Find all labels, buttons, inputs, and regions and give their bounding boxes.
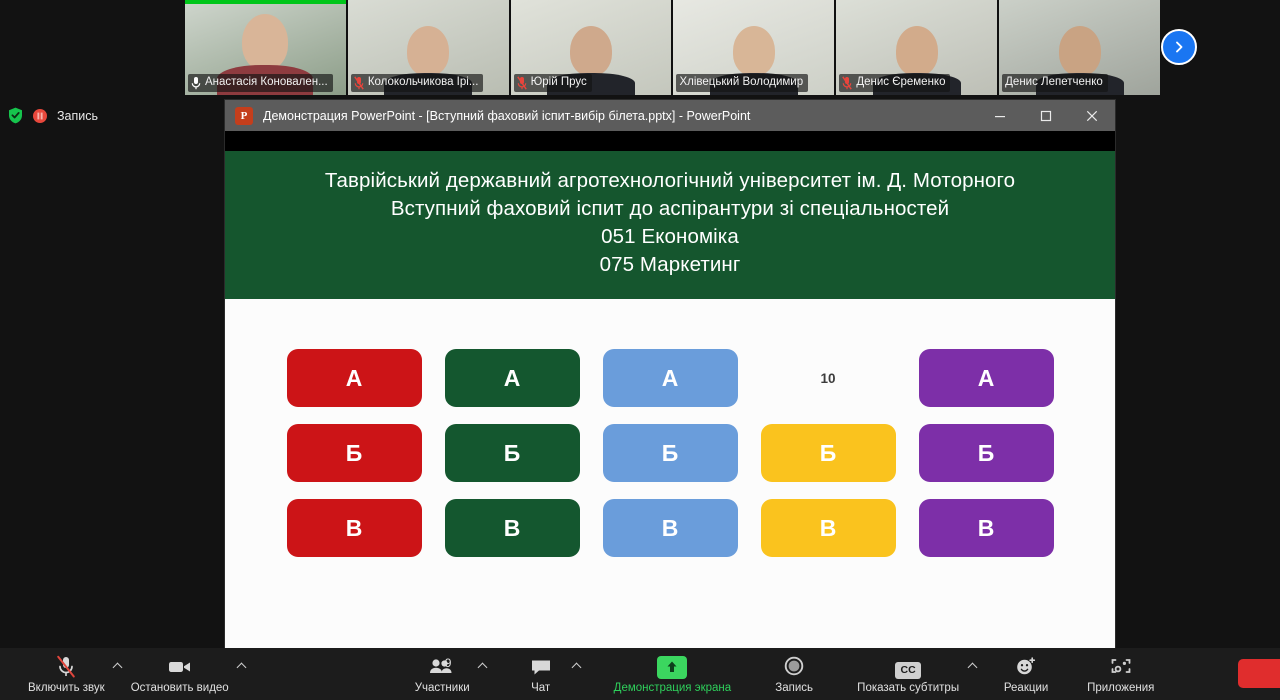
- ticket-card[interactable]: А: [445, 349, 580, 407]
- chevron-up-icon: [113, 662, 123, 672]
- ticket-card[interactable]: В: [287, 499, 422, 557]
- slide-top-black-band: [225, 131, 1115, 151]
- toolbar-chat-button[interactable]: Чат: [512, 648, 570, 700]
- participant-namebar: Денис Лепетченко: [1002, 74, 1108, 92]
- window-controls: [977, 100, 1115, 131]
- participant-name: Анастасія Коновален...: [205, 75, 328, 90]
- participant-namebar: Хлівецький Володимир: [676, 74, 808, 92]
- shield-check-icon: [8, 107, 23, 124]
- active-speaker-bar: [185, 0, 346, 4]
- ticket-card-grid: ААА10АБББББВВВВВ: [273, 349, 1067, 557]
- ticket-card[interactable]: Б: [287, 424, 422, 482]
- filmstrip-next-button[interactable]: [1161, 29, 1197, 65]
- participant-namebar: Юрій Прус: [514, 74, 592, 92]
- close-icon: [1086, 110, 1098, 122]
- chevron-up-icon: [572, 662, 582, 672]
- participant-head: [407, 26, 449, 76]
- end-call-button[interactable]: [1238, 659, 1280, 688]
- chevron-up-icon: [967, 662, 977, 672]
- minimize-button[interactable]: [977, 100, 1023, 131]
- participant-tile[interactable]: Юрій Прус: [511, 0, 672, 95]
- maximize-icon: [1040, 110, 1052, 122]
- participant-name: Колокольчикова Ірі...: [368, 75, 479, 90]
- video-options-caret[interactable]: [235, 648, 249, 700]
- participant-namebar: Колокольчикова Ірі...: [351, 74, 484, 92]
- close-button[interactable]: [1069, 100, 1115, 131]
- toolbar-audio-label: Включить звук: [28, 682, 105, 694]
- ticket-card[interactable]: В: [761, 499, 896, 557]
- captions-options-caret[interactable]: [965, 648, 979, 700]
- ticket-card[interactable]: В: [603, 499, 738, 557]
- people-icon: [428, 655, 456, 679]
- camera-icon: [167, 655, 193, 679]
- zoom-toolbar: Включить звук Остановить видео: [0, 648, 1280, 700]
- zoom-meeting-window: Анастасія Коновален...Колокольчикова Ірі…: [0, 0, 1280, 700]
- toolbar-share-screen-button[interactable]: Демонстрация экрана: [608, 648, 738, 700]
- chevron-up-icon: [478, 662, 488, 672]
- participant-tile[interactable]: Хлівецький Володимир: [673, 0, 834, 95]
- toolbar-share-screen-label: Демонстрация экрана: [614, 682, 732, 694]
- ticket-card[interactable]: Б: [603, 424, 738, 482]
- powerpoint-title: Демонстрация PowerPoint - [Вступний фахо…: [263, 109, 750, 123]
- cc-icon: CC: [895, 655, 921, 679]
- toolbar-chat-label: Чат: [531, 682, 550, 694]
- mic-muted-icon: [55, 655, 77, 679]
- smiley-plus-icon: [1014, 655, 1038, 679]
- slide-header-line: 075 Маркетинг: [235, 251, 1105, 279]
- participant-head: [1059, 26, 1101, 76]
- toolbar-video-label: Остановить видео: [131, 682, 229, 694]
- participant-namebar: Анастасія Коновален...: [188, 74, 333, 92]
- participant-tile[interactable]: Денис Єременко: [836, 0, 997, 95]
- ticket-card[interactable]: А: [287, 349, 422, 407]
- toolbar-reactions-label: Реакции: [1004, 682, 1048, 694]
- recording-pause-icon: [32, 108, 48, 124]
- maximize-button[interactable]: [1023, 100, 1069, 131]
- ticket-card[interactable]: Б: [919, 424, 1054, 482]
- toolbar-apps-button[interactable]: Приложения: [1081, 648, 1160, 700]
- participant-tile[interactable]: Анастасія Коновален...: [185, 0, 346, 95]
- mic-muted-icon: [354, 76, 364, 90]
- recording-indicator[interactable]: Запись: [8, 107, 98, 124]
- slide-header: Таврійський державний агротехнологічний …: [225, 151, 1115, 299]
- powerpoint-titlebar[interactable]: P Демонстрация PowerPoint - [Вступний фа…: [225, 100, 1115, 131]
- toolbar-captions-label: Показать субтитры: [857, 682, 959, 694]
- chevron-right-icon: [1172, 40, 1186, 54]
- participant-head: [570, 26, 612, 76]
- recording-label: Запись: [57, 109, 98, 123]
- toolbar-reactions-button[interactable]: Реакции: [997, 648, 1055, 700]
- apps-icon: [1109, 655, 1133, 679]
- chat-bubble-icon: [529, 655, 553, 679]
- toolbar-record-button[interactable]: Запись: [765, 648, 823, 700]
- record-circle-icon: [782, 655, 806, 679]
- toolbar-apps-label: Приложения: [1087, 682, 1154, 694]
- mic-muted-icon: [517, 76, 527, 90]
- slide-header-line: Таврійський державний агротехнологічний …: [235, 167, 1105, 195]
- minimize-icon: [994, 110, 1006, 122]
- chat-options-caret[interactable]: [570, 648, 584, 700]
- ticket-card[interactable]: Б: [761, 424, 896, 482]
- ticket-card[interactable]: А: [603, 349, 738, 407]
- mic-pinned-icon: [191, 76, 201, 90]
- audio-options-caret[interactable]: [111, 648, 125, 700]
- toolbar-participants-label: Участники: [415, 682, 470, 694]
- participant-name: Денис Лепетченко: [1005, 75, 1103, 90]
- share-screen-icon: [657, 655, 687, 679]
- participant-tile[interactable]: Колокольчикова Ірі...: [348, 0, 509, 95]
- participants-count: 9: [445, 656, 452, 670]
- toolbar-record-label: Запись: [775, 682, 813, 694]
- slide-body: ААА10АБББББВВВВВ: [225, 299, 1115, 658]
- powerpoint-window: P Демонстрация PowerPoint - [Вступний фа…: [225, 100, 1115, 648]
- slide-header-line: Вступний фаховий іспит до аспірантури зі…: [235, 195, 1105, 223]
- participants-options-caret[interactable]: [476, 648, 490, 700]
- ticket-card[interactable]: А: [919, 349, 1054, 407]
- powerpoint-icon: P: [235, 107, 253, 125]
- toolbar-video-button[interactable]: Остановить видео: [125, 648, 235, 700]
- participant-name: Денис Єременко: [856, 75, 945, 90]
- participant-tile[interactable]: Денис Лепетченко: [999, 0, 1160, 95]
- toolbar-participants-button[interactable]: 9 Участники: [409, 648, 476, 700]
- participant-filmstrip: Анастасія Коновален...Колокольчикова Ірі…: [185, 0, 1160, 95]
- toolbar-audio-button[interactable]: Включить звук: [22, 648, 111, 700]
- participant-namebar: Денис Єременко: [839, 74, 950, 92]
- ticket-number-label: 10: [761, 349, 896, 407]
- participant-head: [896, 26, 938, 76]
- participant-name: Юрій Прус: [531, 75, 587, 90]
- participant-head: [733, 26, 775, 76]
- participant-head: [242, 14, 288, 70]
- chevron-up-icon: [237, 662, 247, 672]
- ticket-card[interactable]: В: [445, 499, 580, 557]
- ticket-card[interactable]: Б: [445, 424, 580, 482]
- participant-name: Хлівецький Володимир: [679, 75, 803, 90]
- toolbar-captions-button[interactable]: CC Показать субтитры: [851, 648, 965, 700]
- ticket-card[interactable]: В: [919, 499, 1054, 557]
- slide-header-line: 051 Економіка: [235, 223, 1105, 251]
- mic-muted-icon: [842, 76, 852, 90]
